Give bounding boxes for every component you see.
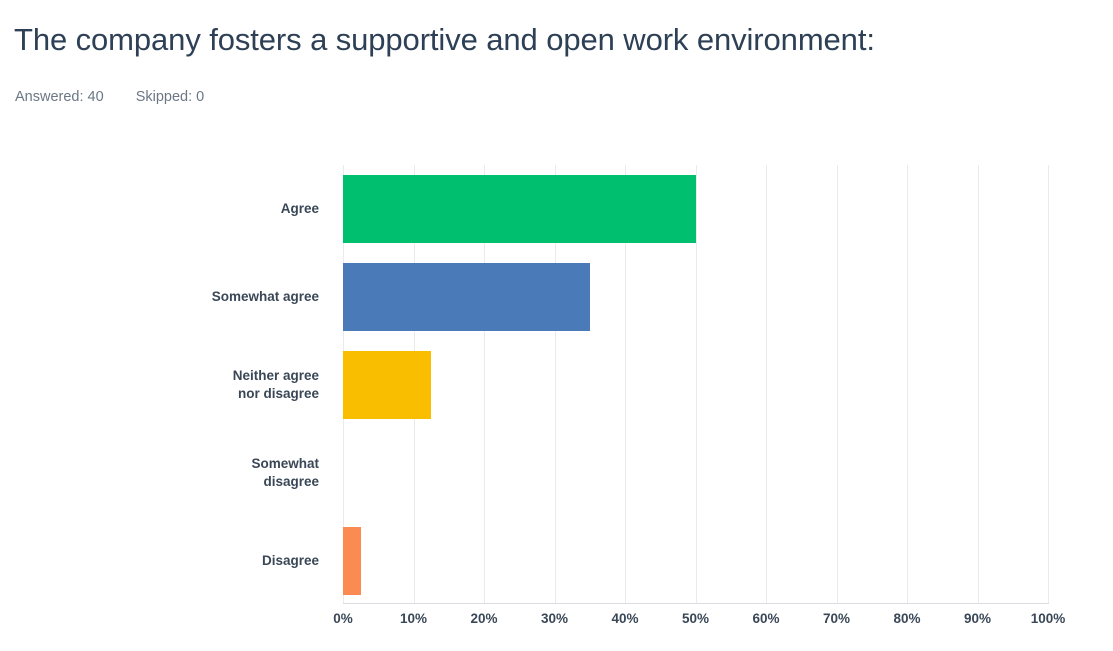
bar-chart: AgreeSomewhat agreeNeither agreenor disa… <box>0 0 1113 651</box>
x-axis-tick-50pct: 50% <box>682 611 709 626</box>
bar-somewhat-agree[interactable] <box>343 263 590 331</box>
y-axis-label-line: disagree <box>0 473 319 491</box>
x-axis-tick-90pct: 90% <box>964 611 991 626</box>
x-axis-tick-70pct: 70% <box>823 611 850 626</box>
x-axis-tick-30pct: 30% <box>541 611 568 626</box>
y-axis-label-somewhat-disagree: Somewhatdisagree <box>0 455 331 491</box>
x-axis-tick-10pct: 10% <box>400 611 427 626</box>
y-axis-label-line: Somewhat agree <box>0 288 319 306</box>
gridline-100pct <box>1048 165 1049 603</box>
table-row <box>343 527 1048 595</box>
x-axis-tick-0pct: 0% <box>333 611 353 626</box>
plot-area <box>343 165 1048 603</box>
y-axis-label-line: nor disagree <box>0 385 319 403</box>
y-axis-label-somewhat-agree: Somewhat agree <box>0 288 331 306</box>
x-axis-tick-20pct: 20% <box>470 611 497 626</box>
x-axis-line <box>343 603 1049 604</box>
x-axis-tick-60pct: 60% <box>752 611 779 626</box>
y-axis-label-line: Somewhat <box>0 455 319 473</box>
x-axis-tick-80pct: 80% <box>893 611 920 626</box>
table-row <box>343 175 1048 243</box>
x-axis-labels: 0%10%20%30%40%50%60%70%80%90%100% <box>343 611 1049 635</box>
bar-agree[interactable] <box>343 175 696 243</box>
table-row <box>343 439 1048 507</box>
y-axis-label-line: Neither agree <box>0 367 319 385</box>
y-axis-label-line: Disagree <box>0 552 319 570</box>
y-axis-label-disagree: Disagree <box>0 552 331 570</box>
x-axis-tick-40pct: 40% <box>611 611 638 626</box>
bar-neither-agree-nor-disagree[interactable] <box>343 351 431 419</box>
y-axis-label-agree: Agree <box>0 200 331 218</box>
table-row <box>343 351 1048 419</box>
table-row <box>343 263 1048 331</box>
x-axis-tick-100pct: 100% <box>1031 611 1066 626</box>
bar-disagree[interactable] <box>343 527 361 595</box>
y-axis-label-neither-agree-nor-disagree: Neither agreenor disagree <box>0 367 331 403</box>
y-axis-label-line: Agree <box>0 200 319 218</box>
